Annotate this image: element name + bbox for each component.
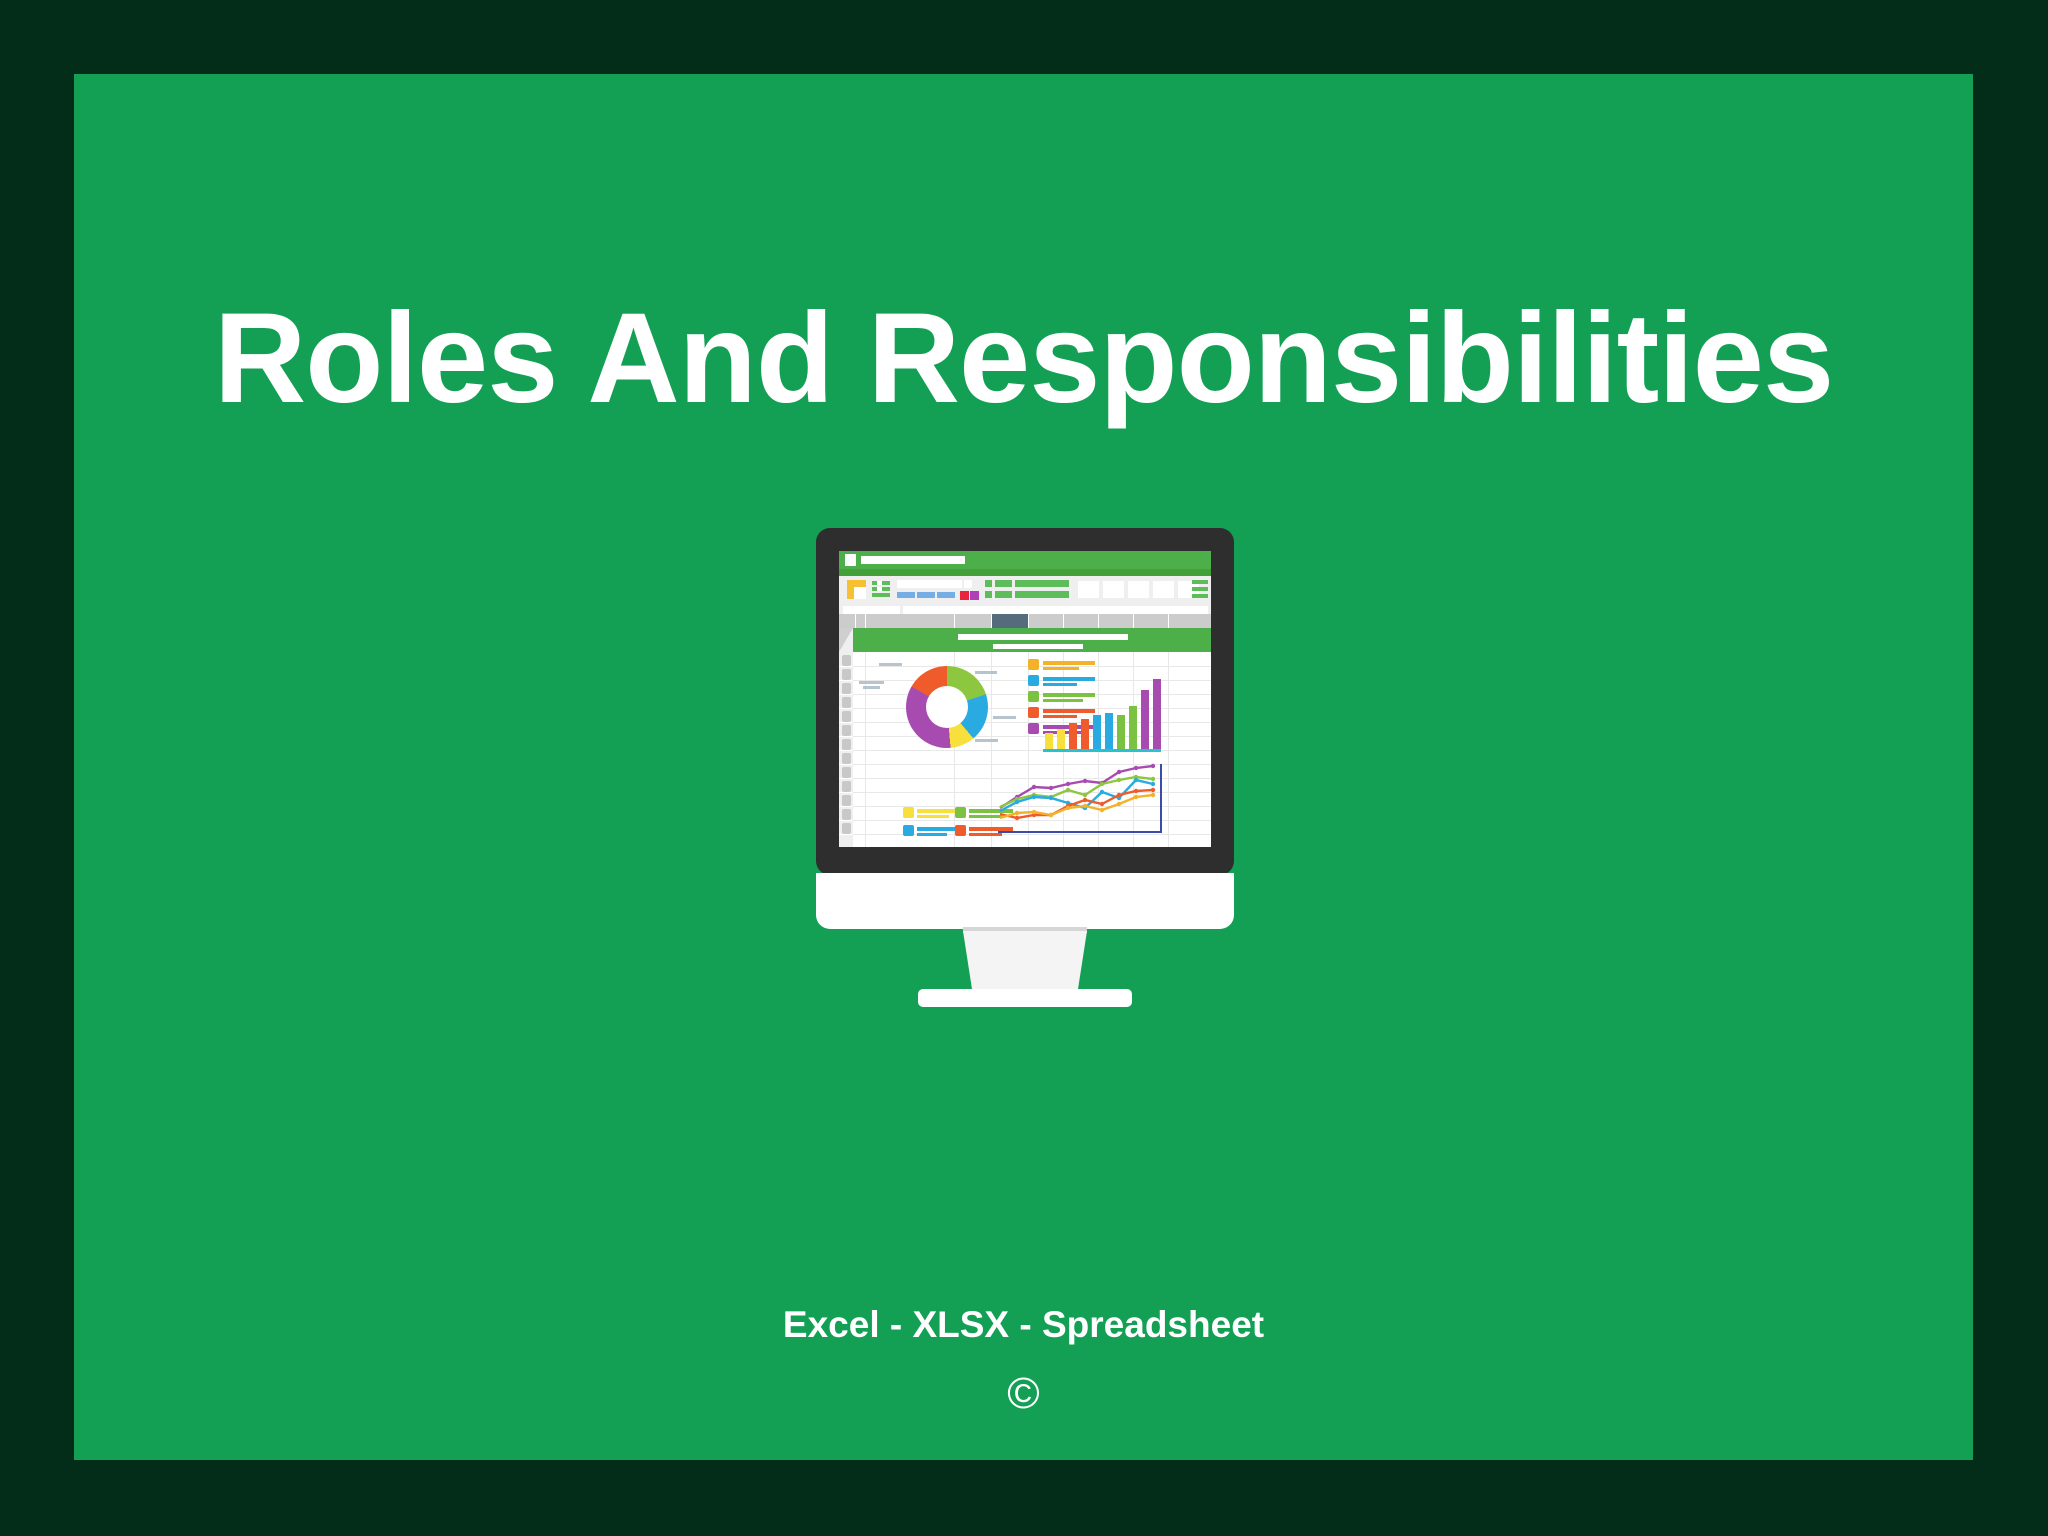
banner-text-line-1 [958,634,1128,640]
ribbon-line-gap-2 [877,587,882,591]
monitor-chin [816,873,1234,929]
legend-swatch-green [1028,691,1039,702]
legend-swatch-orange [1028,707,1039,718]
page-title: Roles And Responsibilities [74,292,1973,426]
legend-swatch-purple [1028,723,1039,734]
bar-2 [1057,729,1065,749]
spreadsheet-titlebar-accent [839,569,1211,576]
formula-bar-row[interactable] [839,605,1211,614]
menu-icon-line-2[interactable] [1192,587,1208,591]
align-icon-1[interactable] [985,580,992,587]
column-header-row[interactable] [839,614,1211,628]
bottom-legend-swatch-orange [955,825,966,836]
bottom-legend-bar-yellow-2 [917,815,949,818]
column-chart[interactable] [1043,694,1161,752]
line-chart-svg [998,750,1163,835]
format-button-3[interactable] [937,592,955,598]
legend-swatch-yellow [1028,659,1039,670]
monitor-stand-neck [963,931,1087,995]
legend-bar-yellow-2 [1043,667,1079,670]
donut-label-5 [975,739,998,742]
font-name-box[interactable] [897,580,962,588]
ribbon-tool-4[interactable] [1153,581,1174,598]
legend-bar-blue-1 [1043,677,1095,681]
bar-3 [1069,723,1077,749]
spreadsheet-ribbon[interactable] [839,576,1211,605]
ribbon-tool-2[interactable] [1103,581,1124,598]
spreadsheet-grid[interactable] [853,652,1211,847]
bottom-legend-swatch-green [955,807,966,818]
ribbon-line-3 [872,593,890,597]
slide-root: Roles And Responsibilities [0,0,2048,1536]
donut-chart[interactable] [906,666,988,748]
row-header-column[interactable] [839,652,853,847]
color-swatch-red[interactable] [960,591,969,600]
ribbon-tool-1[interactable] [1078,581,1099,598]
menu-icon-line-1[interactable] [1192,580,1208,584]
selected-column-header[interactable] [992,614,1028,628]
donut-label-2b [863,686,880,689]
ribbon-tool-3[interactable] [1128,581,1149,598]
monitor-illustration [742,528,1308,1084]
donut-chart-hole [926,686,968,728]
format-button-1[interactable] [897,592,915,598]
style-bar-2[interactable] [1015,591,1069,598]
sheet-banner [853,628,1211,652]
menu-icon-line-3[interactable] [1192,594,1208,598]
bar-4 [1081,719,1089,749]
bar-1 [1045,733,1053,749]
slide-inner-panel: Roles And Responsibilities [74,74,1973,1460]
file-menu-icon-inner [854,587,866,599]
name-box[interactable] [843,606,900,614]
multi-series-line-chart[interactable] [998,750,1163,835]
align-icon-4[interactable] [995,591,1012,598]
color-swatch-purple[interactable] [970,591,979,600]
donut-label-1 [879,663,902,666]
bottom-legend-bar-blue-2 [917,833,947,836]
monitor-screen [839,551,1211,847]
donut-label-3 [975,671,997,674]
bottom-legend-swatch-yellow [903,807,914,818]
monitor-stand-base [918,989,1132,1007]
bar-6 [1105,713,1113,749]
format-button-2[interactable] [917,592,935,598]
footer-text: Excel - XLSX - Spreadsheet [74,1306,1973,1343]
bar-5 [1093,715,1101,749]
copyright-symbol: © [74,1372,1973,1416]
bar-9 [1141,690,1149,749]
document-title-placeholder [861,556,965,564]
select-all-corner[interactable] [839,628,853,652]
align-icon-3[interactable] [995,580,1012,587]
style-bar-1[interactable] [1015,580,1069,587]
donut-label-2a [859,681,884,684]
font-size-box[interactable] [964,580,972,588]
legend-swatch-blue [1028,675,1039,686]
spreadsheet-titlebar [839,551,1211,569]
bar-7 [1117,715,1125,749]
donut-label-4 [993,716,1016,719]
app-icon [845,554,856,566]
bar-8 [1129,706,1137,749]
bottom-legend-swatch-blue [903,825,914,836]
legend-bar-blue-2 [1043,683,1077,686]
ribbon-line-gap-1 [877,581,882,585]
bar-10 [1153,679,1161,749]
legend-bar-yellow-1 [1043,661,1095,665]
banner-text-line-2 [993,644,1083,649]
formula-input[interactable] [903,606,1208,614]
align-icon-2[interactable] [985,591,992,598]
